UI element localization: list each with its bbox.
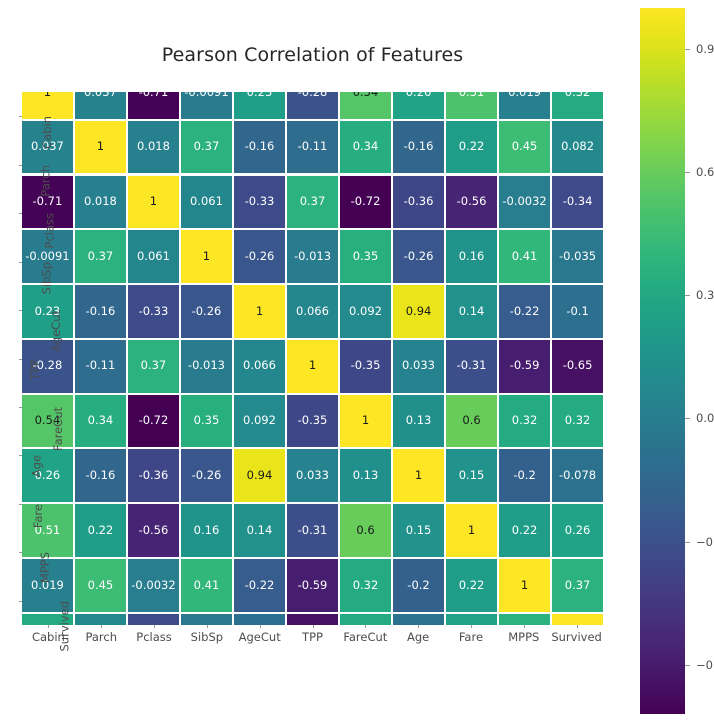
heatmap-cell: -0.16 <box>75 285 126 338</box>
x-tick-label-fare: Fare <box>459 630 483 644</box>
heatmap-cell-value: 0.066 <box>243 360 276 372</box>
heatmap-cell-value: 0.26 <box>565 525 591 537</box>
heatmap-cell: -0.72 <box>128 395 179 448</box>
x-tick-label-tpp: TPP <box>302 630 323 644</box>
heatmap-grid: 10.037-0.71-0.00910.23-0.280.540.260.510… <box>22 92 603 625</box>
colorbar-tick-label: 0.9 <box>696 42 714 56</box>
heatmap-cell-value: 0.14 <box>247 525 273 537</box>
heatmap-cell: -0.11 <box>75 340 126 393</box>
heatmap-cell: 0.019 <box>499 92 550 119</box>
y-tick-mark <box>19 262 22 263</box>
heatmap-cell: -0.59 <box>499 340 550 393</box>
x-tick-label-parch: Parch <box>85 630 117 644</box>
heatmap-cell-value: 0.54 <box>353 92 379 98</box>
heatmap-cell: -0.22 <box>499 285 550 338</box>
heatmap-cell: 0.26 <box>446 614 497 625</box>
heatmap-cell-value: 0.94 <box>247 470 273 482</box>
heatmap-cell: -0.0032 <box>499 176 550 229</box>
heatmap-cell-value: 0.15 <box>459 470 485 482</box>
x-tick-label-agecut: AgeCut <box>239 630 281 644</box>
colorbar-tick-label: 0.0 <box>696 411 714 425</box>
x-tick-mark <box>313 625 314 628</box>
heatmap-cell: -0.59 <box>287 559 338 612</box>
heatmap-cell: 0.018 <box>75 176 126 229</box>
colorbar-tick-mark <box>685 418 690 419</box>
x-tick-label-pclass: Pclass <box>136 630 171 644</box>
heatmap-cell-value: 0.15 <box>406 525 432 537</box>
x-tick-label-survived: Survived <box>551 630 602 644</box>
heatmap-cell-value: 0.22 <box>512 525 538 537</box>
heatmap-cell: -0.28 <box>287 92 338 119</box>
heatmap-cell-value: 0.37 <box>194 141 220 153</box>
heatmap-cell: -0.2 <box>499 449 550 502</box>
heatmap-cell: 0.23 <box>234 92 285 119</box>
heatmap-cell-value: -0.26 <box>192 306 222 318</box>
heatmap-cell-value: -0.36 <box>139 470 169 482</box>
heatmap-cell: 1 <box>181 230 232 283</box>
heatmap-cell: 0.066 <box>234 340 285 393</box>
heatmap-cell: 0.22 <box>499 504 550 557</box>
heatmap-cell: -0.013 <box>287 230 338 283</box>
heatmap-cell-value: -0.26 <box>404 251 434 263</box>
heatmap-cell: 1 <box>340 395 391 448</box>
heatmap-cell-value: -0.72 <box>351 196 381 208</box>
heatmap-cell-value: -0.22 <box>510 306 540 318</box>
colorbar-gradient <box>640 8 685 714</box>
heatmap-cell: 0.37 <box>552 559 603 612</box>
heatmap-cell: 0.35 <box>181 395 232 448</box>
x-tick-mark <box>207 625 208 628</box>
colorbar-tick-label: 0.3 <box>696 288 714 302</box>
heatmap-cell-value: 0.082 <box>561 141 594 153</box>
heatmap-cell: 0.34 <box>340 121 391 174</box>
heatmap-cell-value: -0.2 <box>407 580 429 592</box>
heatmap-cell-value: -0.71 <box>33 196 63 208</box>
y-tick-mark <box>19 407 22 408</box>
y-tick-label-farecut: FareCut <box>51 407 65 451</box>
y-tick-label-tpp: TPP <box>28 359 42 380</box>
heatmap-cell-value: 0.32 <box>512 415 538 427</box>
heatmap-cell: -0.31 <box>446 340 497 393</box>
x-tick-mark <box>101 625 102 628</box>
heatmap-cell-value: 0.019 <box>508 92 541 98</box>
x-tick-label-farecut: FareCut <box>343 630 387 644</box>
heatmap-cell: 0.082 <box>552 121 603 174</box>
x-tick-label-mpps: MPPS <box>508 630 539 644</box>
heatmap-cell-value: 1 <box>44 92 51 98</box>
heatmap-cell: -0.33 <box>234 176 285 229</box>
heatmap-cell-value: -0.013 <box>294 251 331 263</box>
heatmap-cell: 0.37 <box>75 230 126 283</box>
heatmap-cell: -0.36 <box>128 449 179 502</box>
heatmap-cell: 0.018 <box>128 121 179 174</box>
heatmap-cell-value: -0.28 <box>298 92 328 98</box>
heatmap-cell: 0.033 <box>287 449 338 502</box>
y-tick-mark <box>19 116 22 117</box>
heatmap-cell-value: 0.018 <box>137 141 170 153</box>
heatmap-cell: 0.092 <box>340 285 391 338</box>
heatmap-cell: -0.34 <box>128 614 179 625</box>
colorbar-tick-mark <box>685 295 690 296</box>
heatmap-cell-value: 0.41 <box>512 251 538 263</box>
colorbar: 0.90.60.30.0−0.3−0.6 <box>640 8 685 714</box>
page-title: Pearson Correlation of Features <box>22 44 603 66</box>
x-tick-mark <box>48 625 49 628</box>
heatmap-cell-value: 0.45 <box>88 580 114 592</box>
heatmap-cell-value: 0.033 <box>402 360 435 372</box>
heatmap-cell: 0.22 <box>446 559 497 612</box>
heatmap-cell-value: -0.71 <box>139 92 169 98</box>
heatmap-cell: 0.34 <box>75 395 126 448</box>
heatmap-cell: 0.13 <box>340 449 391 502</box>
heatmap-cell-value: 0.13 <box>353 470 379 482</box>
heatmap-cell-value: -0.31 <box>298 525 328 537</box>
heatmap-cell: 1 <box>287 340 338 393</box>
heatmap-cell-value: 1 <box>203 251 210 263</box>
heatmap-cell: -0.1 <box>552 285 603 338</box>
colorbar-tick-mark <box>685 542 690 543</box>
heatmap-cell: -0.65 <box>552 340 603 393</box>
heatmap-cell-value: -0.078 <box>559 470 596 482</box>
heatmap-cell: -0.26 <box>181 285 232 338</box>
heatmap-cell: 0.15 <box>446 449 497 502</box>
heatmap-cell-value: 1 <box>415 470 422 482</box>
heatmap-cell: -0.26 <box>393 230 444 283</box>
y-tick-label-sibsp: SibSp <box>39 262 53 294</box>
heatmap-cell-value: 0.092 <box>243 415 276 427</box>
heatmap-cell: 0.37 <box>499 614 550 625</box>
heatmap-cell-value: 0.94 <box>406 306 432 318</box>
heatmap-cell: -0.31 <box>287 504 338 557</box>
y-tick-mark <box>19 359 22 360</box>
heatmap-cell-value: -0.72 <box>139 415 169 427</box>
heatmap-cell-value: -0.16 <box>404 141 434 153</box>
heatmap-cell-value: 0.018 <box>84 196 117 208</box>
heatmap-cell: 0.14 <box>446 285 497 338</box>
y-tick-label-age: Age <box>29 455 43 477</box>
heatmap-cell: -0.36 <box>393 176 444 229</box>
heatmap-cell-value: 0.35 <box>353 251 379 263</box>
heatmap-cell: 1 <box>75 121 126 174</box>
heatmap-cell: -0.34 <box>552 176 603 229</box>
heatmap-cell-value: -0.35 <box>351 360 381 372</box>
heatmap-cell: 1 <box>393 449 444 502</box>
heatmap-cell-value: -0.0091 <box>184 92 228 98</box>
heatmap-cell: -0.22 <box>234 559 285 612</box>
heatmap-cell: 0.32 <box>340 559 391 612</box>
heatmap-cell: -0.0032 <box>128 559 179 612</box>
heatmap-cell-value: -0.035 <box>559 251 596 263</box>
heatmap-plot-area: 10.037-0.71-0.00910.23-0.280.540.260.510… <box>22 92 603 625</box>
heatmap-cell: 0.066 <box>287 285 338 338</box>
correlation-heatmap-figure: Pearson Correlation of Features 10.037-0… <box>0 0 714 721</box>
heatmap-cell-value: 0.14 <box>459 306 485 318</box>
heatmap-cell: 0.082 <box>75 614 126 625</box>
heatmap-cell-value: -0.56 <box>139 525 169 537</box>
heatmap-cell-value: 0.37 <box>88 251 114 263</box>
y-tick-label-pclass: Pclass <box>42 213 56 248</box>
colorbar-tick-mark <box>685 172 690 173</box>
heatmap-cell-value: 1 <box>97 141 104 153</box>
heatmap-cell: 0.94 <box>234 449 285 502</box>
heatmap-cell-value: -0.2 <box>513 470 535 482</box>
heatmap-cell-value: -0.33 <box>245 196 275 208</box>
heatmap-cell: 0.061 <box>181 176 232 229</box>
heatmap-cell-value: 0.066 <box>296 306 329 318</box>
heatmap-cell: 0.037 <box>75 92 126 119</box>
heatmap-cell: -0.71 <box>128 92 179 119</box>
y-tick-mark <box>19 601 22 602</box>
heatmap-cell-value: 0.32 <box>565 92 591 98</box>
x-tick-mark <box>365 625 366 628</box>
heatmap-cell-value: 0.23 <box>247 92 273 98</box>
heatmap-cell: -0.16 <box>393 121 444 174</box>
x-tick-mark <box>577 625 578 628</box>
heatmap-cell-value: -0.56 <box>457 196 487 208</box>
heatmap-cell: 0.45 <box>75 559 126 612</box>
heatmap-cell-value: 1 <box>521 580 528 592</box>
heatmap-cell: -0.56 <box>128 504 179 557</box>
heatmap-cell: 1 <box>128 176 179 229</box>
heatmap-cell: 0.13 <box>393 395 444 448</box>
heatmap-cell-value: 0.6 <box>356 525 374 537</box>
heatmap-cell: 0.32 <box>499 395 550 448</box>
colorbar-tick-mark <box>685 665 690 666</box>
heatmap-cell-value: -0.013 <box>188 360 225 372</box>
heatmap-cell-value: -0.22 <box>245 580 275 592</box>
heatmap-cell-value: 1 <box>362 415 369 427</box>
heatmap-cell: 0.35 <box>340 230 391 283</box>
heatmap-cell: 0.51 <box>22 504 73 557</box>
x-tick-label-sibsp: SibSp <box>191 630 223 644</box>
heatmap-cell-value: 0.22 <box>459 580 485 592</box>
colorbar-tick-label: 0.6 <box>696 165 714 179</box>
heatmap-cell: 0.16 <box>446 230 497 283</box>
heatmap-cell: 0.033 <box>393 340 444 393</box>
heatmap-cell-value: -0.16 <box>245 141 275 153</box>
heatmap-cell-value: 0.32 <box>353 580 379 592</box>
heatmap-cell-value: 0.37 <box>565 580 591 592</box>
heatmap-cell: -0.56 <box>446 176 497 229</box>
heatmap-cell: -0.26 <box>234 230 285 283</box>
heatmap-cell-value: 0.41 <box>194 580 220 592</box>
heatmap-cell: 0.37 <box>287 176 338 229</box>
heatmap-cell-value: -0.31 <box>457 360 487 372</box>
heatmap-cell-value: 0.37 <box>141 360 167 372</box>
colorbar-tick-label: −0.6 <box>696 658 714 672</box>
y-tick-label-agecut: AgeCut <box>49 310 63 352</box>
heatmap-cell: -0.16 <box>234 121 285 174</box>
heatmap-cell: 0.15 <box>393 504 444 557</box>
heatmap-cell-value: -0.1 <box>566 306 588 318</box>
x-tick-mark <box>260 625 261 628</box>
heatmap-cell: -0.26 <box>181 449 232 502</box>
heatmap-cell-value: 1 <box>468 525 475 537</box>
heatmap-cell: 0.14 <box>234 504 285 557</box>
heatmap-cell-value: 0.037 <box>84 92 117 98</box>
heatmap-cell-value: 1 <box>309 360 316 372</box>
colorbar-tick-mark <box>685 49 690 50</box>
heatmap-cell: 0.54 <box>22 395 73 448</box>
heatmap-cell: 0.061 <box>128 230 179 283</box>
heatmap-cell-value: -0.11 <box>86 360 116 372</box>
heatmap-cell-value: 0.22 <box>88 525 114 537</box>
y-tick-label-mpps: MPPS <box>38 552 52 583</box>
heatmap-cell: 0.37 <box>181 121 232 174</box>
heatmap-cell-value: -0.34 <box>563 196 593 208</box>
heatmap-cell: 0.26 <box>393 92 444 119</box>
heatmap-cell-value: -0.11 <box>298 141 328 153</box>
heatmap-cell-value: 0.13 <box>406 415 432 427</box>
heatmap-cell-value: 0.061 <box>137 251 170 263</box>
heatmap-cell-value: 0.22 <box>459 141 485 153</box>
heatmap-cell: 1 <box>446 504 497 557</box>
heatmap-cell-value: 0.6 <box>462 415 480 427</box>
y-tick-mark <box>19 165 22 166</box>
y-tick-label-fare: Fare <box>31 504 45 528</box>
heatmap-cell: 0.37 <box>128 340 179 393</box>
x-tick-mark <box>418 625 419 628</box>
heatmap-cell-value: -0.16 <box>86 470 116 482</box>
heatmap-cell-value: 0.16 <box>194 525 220 537</box>
y-tick-mark <box>19 552 22 553</box>
heatmap-cell: 0.41 <box>181 559 232 612</box>
heatmap-cell-value: -0.26 <box>192 470 222 482</box>
heatmap-cell-value: -0.59 <box>510 360 540 372</box>
heatmap-cell: 0.94 <box>393 285 444 338</box>
heatmap-cell-value: -0.36 <box>404 196 434 208</box>
x-tick-mark <box>524 625 525 628</box>
heatmap-cell: -0.035 <box>181 614 232 625</box>
heatmap-cell-value: -0.65 <box>563 360 593 372</box>
heatmap-cell-value: 1 <box>256 306 263 318</box>
heatmap-cell-value: 0.35 <box>194 415 220 427</box>
heatmap-cell: -0.35 <box>340 340 391 393</box>
heatmap-cell-value: 0.32 <box>565 415 591 427</box>
y-tick-mark <box>19 455 22 456</box>
x-tick-label-age: Age <box>407 630 429 644</box>
heatmap-cell: -0.72 <box>340 176 391 229</box>
heatmap-cell: 0.32 <box>552 92 603 119</box>
y-tick-mark <box>19 213 22 214</box>
heatmap-cell-value: -0.0032 <box>131 580 175 592</box>
heatmap-cell: -0.33 <box>128 285 179 338</box>
heatmap-cell: -0.035 <box>552 230 603 283</box>
y-tick-label-survived: Survived <box>58 601 72 652</box>
heatmap-cell-value: 1 <box>150 196 157 208</box>
heatmap-cell: 0.54 <box>340 92 391 119</box>
heatmap-cell: 0.32 <box>552 395 603 448</box>
y-tick-mark <box>19 504 22 505</box>
heatmap-cell: -0.078 <box>393 614 444 625</box>
y-tick-label-parch: Parch <box>39 165 53 197</box>
heatmap-cell-value: -0.16 <box>86 306 116 318</box>
heatmap-cell: 0.22 <box>75 504 126 557</box>
heatmap-cell-value: 0.092 <box>349 306 382 318</box>
colorbar-tick-label: −0.3 <box>696 535 714 549</box>
heatmap-cell-value: -0.26 <box>245 251 275 263</box>
heatmap-cell: -0.013 <box>181 340 232 393</box>
heatmap-cell: 1 <box>234 285 285 338</box>
x-tick-mark <box>471 625 472 628</box>
heatmap-cell: -0.11 <box>287 121 338 174</box>
heatmap-cell: 0.51 <box>446 92 497 119</box>
heatmap-cell: -0.1 <box>234 614 285 625</box>
heatmap-cell: -0.078 <box>552 449 603 502</box>
heatmap-cell-value: 0.26 <box>406 92 432 98</box>
heatmap-cell: -0.0091 <box>181 92 232 119</box>
heatmap-cell: -0.35 <box>287 395 338 448</box>
heatmap-cell: 0.45 <box>499 121 550 174</box>
heatmap-cell: 0.6 <box>446 395 497 448</box>
heatmap-cell: -0.2 <box>393 559 444 612</box>
y-tick-label-cabin: Cabin <box>40 116 54 149</box>
heatmap-cell-value: -0.59 <box>298 580 328 592</box>
heatmap-cell: 0.41 <box>499 230 550 283</box>
heatmap-cell: 0.22 <box>446 121 497 174</box>
heatmap-cell: -0.16 <box>75 449 126 502</box>
heatmap-cell: 0.26 <box>552 504 603 557</box>
heatmap-cell-value: -0.0091 <box>25 251 69 263</box>
heatmap-cell-value: 0.37 <box>300 196 326 208</box>
heatmap-cell-value: 0.033 <box>296 470 329 482</box>
heatmap-cell: 1 <box>552 614 603 625</box>
heatmap-cell: 0.092 <box>234 395 285 448</box>
heatmap-cell: -0.65 <box>287 614 338 625</box>
heatmap-cell-value: 0.34 <box>353 141 379 153</box>
heatmap-cell: 0.16 <box>181 504 232 557</box>
heatmap-cell: 1 <box>22 92 73 119</box>
y-tick-mark <box>19 310 22 311</box>
heatmap-cell: 1 <box>499 559 550 612</box>
heatmap-cell: 0.6 <box>340 504 391 557</box>
heatmap-cell-value: -0.33 <box>139 306 169 318</box>
heatmap-cell-value: 0.51 <box>459 92 485 98</box>
heatmap-cell: 0.32 <box>340 614 391 625</box>
heatmap-cell-value: 0.45 <box>512 141 538 153</box>
heatmap-cell-value: 0.16 <box>459 251 485 263</box>
heatmap-cell-value: 0.061 <box>190 196 223 208</box>
heatmap-cell-value: 0.34 <box>88 415 114 427</box>
heatmap-cell-value: -0.35 <box>298 415 328 427</box>
heatmap-cell-value: -0.0032 <box>502 196 546 208</box>
x-tick-mark <box>154 625 155 628</box>
